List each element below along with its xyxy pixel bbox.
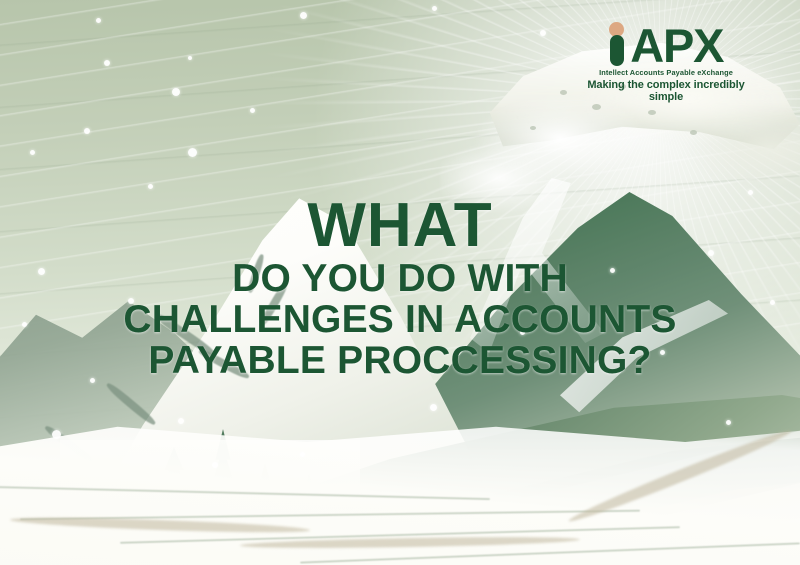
snowflake xyxy=(52,430,61,439)
snowflake xyxy=(30,150,35,155)
snowflake xyxy=(250,108,255,113)
poster-canvas: APX Intellect Accounts Payable eXchange … xyxy=(0,0,800,565)
snowflake xyxy=(178,418,184,424)
iapx-logo[interactable]: APX Intellect Accounts Payable eXchange … xyxy=(576,22,756,103)
plume-speck xyxy=(690,130,697,135)
snowflake xyxy=(432,6,437,11)
logo-tagline-text: Making the complex incredibly simple xyxy=(576,79,756,103)
snowflake xyxy=(148,184,153,189)
snowflake xyxy=(188,56,192,60)
snowflake xyxy=(300,12,307,19)
snowflake xyxy=(104,60,110,66)
snowflake xyxy=(748,190,753,195)
plume-speck xyxy=(560,90,567,95)
snowflake xyxy=(300,452,305,457)
plume-speck xyxy=(648,110,656,115)
logo-apx-text: APX xyxy=(630,26,723,66)
logo-letter-i-icon xyxy=(609,22,625,66)
snowflake xyxy=(726,420,731,425)
headline-line-2: DO YOU DO WITH xyxy=(0,258,800,299)
headline-line-4: PAYABLE PROCCESSING? xyxy=(0,340,800,381)
headline-line-3: CHALLENGES IN ACCOUNTS xyxy=(0,299,800,340)
logo-wordmark: APX xyxy=(609,22,724,66)
plume-speck xyxy=(592,104,601,110)
logo-i-stem-icon xyxy=(610,35,624,66)
plume-speck xyxy=(530,126,536,130)
snowflake xyxy=(84,128,90,134)
snowflake xyxy=(540,30,546,36)
snowflake xyxy=(212,462,218,468)
headline-line-1: WHAT xyxy=(0,196,800,256)
snowflake xyxy=(172,88,180,96)
snowflake xyxy=(188,148,197,157)
snowflake xyxy=(430,404,437,411)
snowflake xyxy=(96,18,101,23)
headline-block: WHAT DO YOU DO WITH CHALLENGES IN ACCOUN… xyxy=(0,196,800,382)
